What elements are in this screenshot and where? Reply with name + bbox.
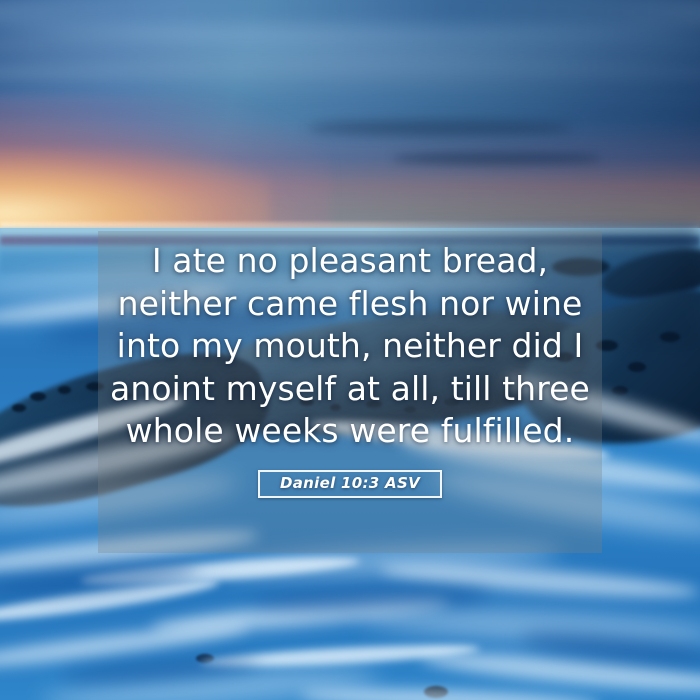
verse-line-2: neither came flesh nor wine: [104, 283, 596, 326]
attribution-box: Daniel 10:3 ASV: [258, 470, 442, 498]
verse-text-block: I ate no pleasant bread, neither came fl…: [98, 240, 602, 453]
rock-speck: [660, 332, 680, 342]
rock-speck: [628, 362, 646, 372]
attribution-wrapper: Daniel 10:3 ASV: [98, 470, 602, 498]
verse-line-3: into my mouth, neither did I: [104, 325, 596, 368]
cloud-band: [0, 58, 700, 88]
verse-line-1: I ate no pleasant bread,: [104, 240, 596, 283]
verse-reference: Daniel 10:3 ASV: [280, 474, 420, 492]
rock-speck: [12, 404, 26, 412]
dark-cloud-streak: [392, 152, 602, 165]
verse-image-canvas: I ate no pleasant bread, neither came fl…: [0, 0, 700, 700]
dark-cloud-streak: [308, 120, 574, 136]
rock-speck: [58, 386, 71, 394]
rock-speck: [30, 392, 46, 401]
verse-line-4: anoint myself at all, till three: [104, 368, 596, 411]
rock-speck: [612, 386, 628, 395]
verse-line-5: whole weeks were fulfilled.: [104, 410, 596, 453]
